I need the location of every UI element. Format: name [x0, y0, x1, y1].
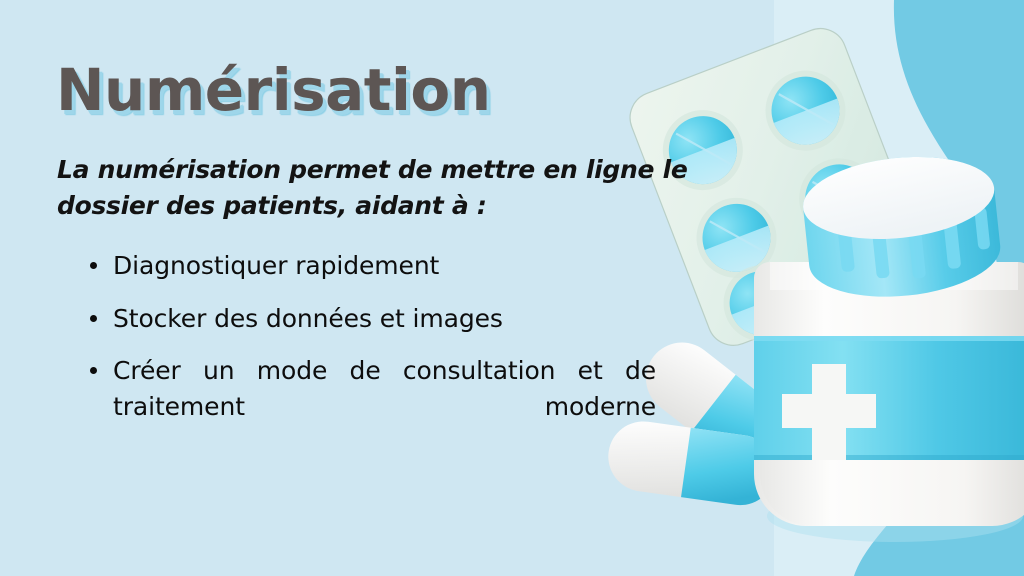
- list-item: Créer un mode de consultation et de trai…: [86, 353, 656, 460]
- bullet-dot-icon: [90, 367, 97, 374]
- list-item-label: Créer un mode de consultation et de trai…: [113, 356, 656, 421]
- subtitle-text: La numérisation permet de mettre en lign…: [57, 152, 697, 225]
- list-item-label: Diagnostiquer rapidement: [113, 251, 439, 280]
- bullet-dot-icon: [90, 315, 97, 322]
- text-content-column: Numérisation La numérisation permet de m…: [0, 0, 700, 576]
- list-item: Stocker des données et images: [86, 301, 656, 337]
- slide-canvas: Numérisation La numérisation permet de m…: [0, 0, 1024, 576]
- list-item: Diagnostiquer rapidement: [86, 248, 656, 284]
- page-title: Numérisation: [56, 56, 491, 124]
- bullet-dot-icon: [90, 262, 97, 269]
- bullet-list: Diagnostiquer rapidement Stocker des don…: [86, 248, 656, 477]
- background-accent-panel: [794, 0, 1024, 576]
- list-item-label: Stocker des données et images: [113, 304, 503, 333]
